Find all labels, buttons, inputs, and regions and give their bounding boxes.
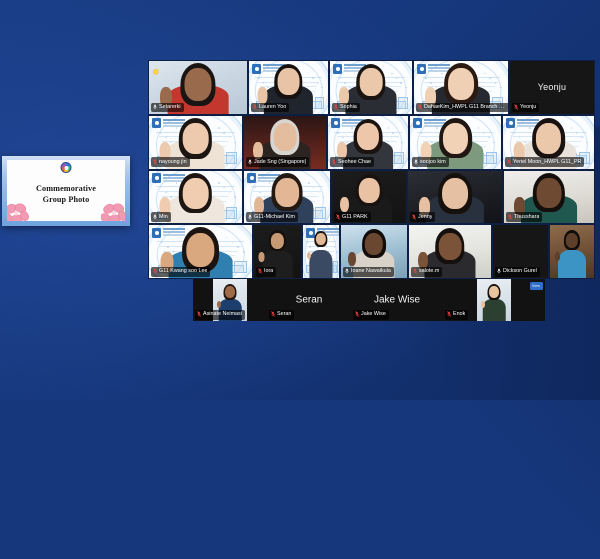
participant-name-label: Asinate Neimasi: [195, 310, 245, 320]
mic-muted-icon: [507, 159, 511, 165]
gallery-row: MinG11-Michael KimG11 PARKJennyThusshara: [148, 170, 595, 225]
mic-icon: [248, 159, 252, 165]
participant-name: DahaeKim_HWPL G11 Branch Ma...: [424, 103, 506, 111]
participant-name-label: soojoo kim: [412, 157, 449, 167]
participant-name-label: Jade Sng (Singapore): [246, 157, 309, 167]
participant-tile[interactable]: Dickson Gurel: [492, 224, 549, 279]
mic-icon: [414, 159, 418, 165]
mic-muted-icon: [355, 311, 359, 317]
mic-muted-icon: [508, 214, 512, 220]
participant-name: nayoung jin: [159, 158, 187, 166]
participant-tile[interactable]: Lauren Yoo: [248, 60, 329, 115]
mic-icon: [497, 268, 501, 274]
mic-muted-icon: [447, 311, 451, 317]
participant-name-label: Iora: [256, 267, 276, 277]
participant-name-label: Dickson Gurel: [495, 267, 540, 277]
mic-muted-icon: [258, 268, 262, 274]
participant-name: Sophia: [340, 103, 357, 111]
mic-muted-icon: [413, 268, 417, 274]
participant-name-label: Jenny: [410, 212, 435, 222]
mic-muted-icon: [153, 268, 157, 274]
participant-name: Asinate Neimasi: [203, 310, 242, 318]
participant-tile[interactable]: nayoung jin: [148, 115, 243, 170]
participant-tile[interactable]: Thusshara: [503, 170, 595, 225]
participant-name: Dickson Gurel: [503, 267, 537, 275]
mic-muted-icon: [153, 159, 157, 165]
participant-name-label: Yeriel Moon_HWPL G11_PR: [505, 157, 584, 167]
participant-name-label: Seran: [269, 310, 294, 320]
slide-title: Commemorative Group Photo: [36, 184, 96, 205]
participant-name-label: Enok: [445, 310, 468, 320]
gallery-row: SetarerkiLauren YooSophiaDahaeKim_HWPL G…: [148, 60, 595, 115]
participant-tile[interactable]: [549, 224, 595, 279]
participant-name-label: Ioane Nawaikula: [343, 267, 394, 277]
participant-tile[interactable]: Setarerki: [148, 60, 248, 115]
mic-muted-icon: [334, 104, 338, 110]
mic-muted-icon: [197, 311, 201, 317]
participant-name: Yeriel Moon_HWPL G11_PR: [513, 158, 581, 166]
participant-filmstrip: Asinate NeimasiSeranSeranJake WiseJake W…: [193, 279, 545, 321]
participant-name: Thusshara: [514, 213, 539, 221]
mic-muted-icon: [271, 311, 275, 317]
slide-title-line1: Commemorative: [36, 184, 96, 194]
participant-tile[interactable]: Seohee Chae: [327, 115, 409, 170]
participant-name-label: G11 PARK: [334, 212, 371, 222]
participant-name-label: Min: [151, 212, 171, 222]
participant-name: G11 Kwang soo Lee: [159, 267, 207, 275]
gallery-row: nayoung jinJade Sng (Singapore)Seohee Ch…: [148, 115, 595, 170]
participant-name: G11-Michael Kim: [254, 213, 295, 221]
participant-name: soojoo kim: [420, 158, 446, 166]
participant-video: [477, 279, 511, 321]
shared-screen-slide[interactable]: Commemorative Group Photo: [2, 156, 130, 226]
mic-muted-icon: [412, 214, 416, 220]
mic-icon: [153, 214, 157, 220]
mic-muted-icon: [514, 104, 518, 110]
mic-icon: [153, 104, 157, 110]
participant-tile[interactable]: YeonjuYeonju: [509, 60, 595, 115]
mic-muted-icon: [336, 214, 340, 220]
participant-name-label: Setarerki: [151, 103, 184, 113]
mic-icon: [248, 214, 252, 220]
participant-name: Iora: [264, 267, 273, 275]
participant-tile[interactable]: G11 PARK: [331, 170, 407, 225]
participant-name: Jenny: [418, 213, 432, 221]
participant-tile[interactable]: Jade Sng (Singapore): [243, 115, 327, 170]
slide-content: Commemorative Group Photo: [7, 160, 125, 221]
participant-name-label: G11-Michael Kim: [246, 212, 298, 222]
view-button-label: View: [532, 284, 540, 288]
participant-tile[interactable]: G11 Kwang soo Lee: [148, 224, 253, 279]
participant-name-label: Yeonju: [512, 103, 539, 113]
participant-name-label: Thusshara: [506, 212, 542, 222]
participant-tile[interactable]: soojoo kim: [409, 115, 502, 170]
slide-title-line2: Group Photo: [36, 195, 96, 205]
participant-name-label: salote.m: [411, 267, 442, 277]
filmstrip-participant-tile[interactable]: SeranSeran: [267, 279, 351, 321]
participant-tile[interactable]: DahaeKim_HWPL G11 Branch Ma...: [413, 60, 509, 115]
participant-name-label: nayoung jin: [151, 157, 190, 167]
participant-name-label: G11 Kwang soo Lee: [151, 267, 210, 277]
filmstrip-participant-tile[interactable]: Asinate Neimasi: [193, 279, 267, 321]
participant-tile[interactable]: Jenny: [407, 170, 503, 225]
mic-muted-icon: [418, 104, 422, 110]
participant-name: Min: [159, 213, 168, 221]
participant-tile[interactable]: Min: [148, 170, 243, 225]
participant-name: Enok: [453, 310, 465, 318]
cherry-blossom-icon: [7, 202, 29, 221]
mic-icon: [345, 268, 349, 274]
participant-tile[interactable]: [302, 224, 340, 279]
raised-hand-emoji-icon: [152, 63, 161, 72]
participant-tile[interactable]: Sophia: [329, 60, 413, 115]
participant-name-label: Sophia: [332, 103, 360, 113]
filmstrip-large-name: Jake Wise: [351, 295, 443, 306]
participant-tile[interactable]: Ioane Nawaikula: [340, 224, 408, 279]
hwpl-globe-logo-icon: [61, 162, 72, 173]
view-button[interactable]: View: [530, 282, 543, 290]
participant-name: G11 PARK: [342, 213, 368, 221]
gallery-row: G11 Kwang soo LeeIoraIoane Nawaikulasalo…: [148, 224, 595, 279]
participant-name: Jake Wise: [361, 310, 386, 318]
participant-name: Yeonju: [520, 103, 536, 111]
participant-tile[interactable]: G11-Michael Kim: [243, 170, 331, 225]
participant-name: Seran: [277, 310, 291, 318]
participant-name: Jade Sng (Singapore): [254, 158, 306, 166]
participant-name-label: Jake Wise: [353, 310, 389, 320]
camera-off-name: Yeonju: [538, 82, 566, 92]
participant-name: Setarerki: [159, 103, 181, 111]
filmstrip-large-name: Seran: [267, 295, 351, 306]
filmstrip-participant-tile[interactable]: Jake WiseJake Wise: [351, 279, 443, 321]
participant-tile[interactable]: Yeriel Moon_HWPL G11_PR: [502, 115, 595, 170]
participant-gallery: SetarerkiLauren YooSophiaDahaeKim_HWPL G…: [148, 60, 595, 279]
participant-name-label: DahaeKim_HWPL G11 Branch Ma...: [416, 103, 509, 113]
participant-name: salote.m: [419, 267, 439, 275]
participant-tile[interactable]: salote.m: [408, 224, 492, 279]
participant-name-label: Lauren Yoo: [251, 103, 289, 113]
participant-name: Lauren Yoo: [259, 103, 286, 111]
participant-name: Seohee Chae: [338, 158, 371, 166]
participant-tile[interactable]: Iora: [253, 224, 302, 279]
conference-stage: Commemorative Group Photo: [0, 0, 600, 400]
mic-muted-icon: [332, 159, 336, 165]
participant-name: Ioane Nawaikula: [351, 267, 391, 275]
cherry-blossom-icon: [101, 202, 125, 221]
participant-name-label: Seohee Chae: [330, 157, 374, 167]
mic-muted-icon: [253, 104, 257, 110]
